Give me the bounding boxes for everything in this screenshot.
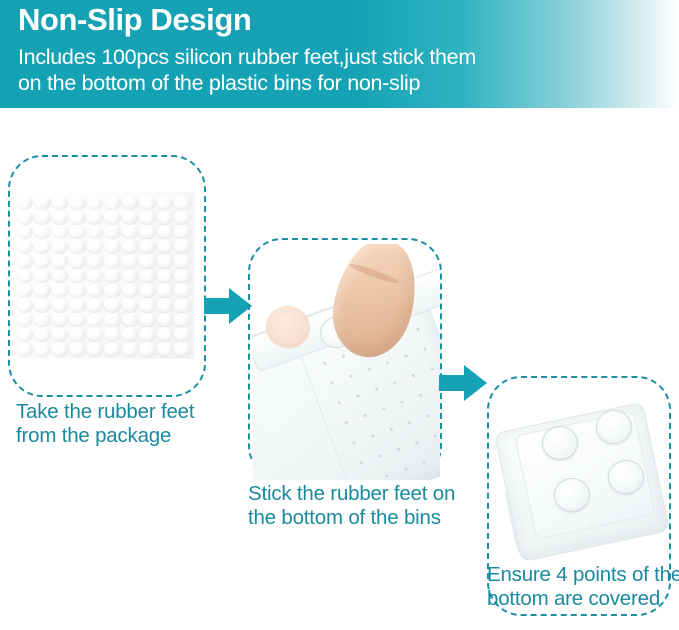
bin-texture-dot	[412, 374, 416, 378]
rubber-foot-dot	[157, 239, 174, 253]
bin-texture-dot	[426, 414, 430, 418]
bin-texture-dot	[323, 361, 327, 365]
rubber-foot-dot	[122, 313, 139, 327]
rubber-foot-dot	[69, 269, 86, 283]
rubber-foot-dot	[139, 210, 156, 224]
bin-texture-dot	[423, 348, 427, 352]
rubber-foot-dot	[87, 254, 104, 268]
rubber-foot-dot	[104, 313, 121, 327]
corner-rubber-foot-top-right	[596, 410, 632, 444]
bin-texture-dot	[352, 441, 356, 445]
bin-texture-dot	[375, 388, 379, 392]
rubber-foot-dot	[17, 283, 34, 297]
rubber-foot-dot	[104, 342, 121, 356]
rubber-foot-dot	[52, 298, 69, 312]
rubber-foot-dot	[157, 196, 174, 210]
rubber-foot-dot	[52, 313, 69, 327]
rubber-foot-dot	[174, 225, 191, 239]
rubber-foot-dot	[122, 196, 139, 210]
rubber-foot-dot	[174, 283, 191, 297]
rubber-foot-dot	[87, 269, 104, 283]
bin-texture-dot	[404, 354, 408, 358]
rubber-foot-dot	[157, 283, 174, 297]
bin-texture-dot	[356, 394, 360, 398]
bin-texture-dot	[349, 374, 353, 378]
bin-texture-dot	[393, 381, 397, 385]
rubber-foot-dot	[139, 283, 156, 297]
rubber-foot-dot	[34, 210, 51, 224]
rubber-foot-dot	[122, 298, 139, 312]
rubber-foot-dot	[104, 196, 121, 210]
page-title: Non-Slip Design	[18, 2, 251, 38]
rubber-foot-dot	[174, 313, 191, 327]
rubber-foot-dot	[139, 313, 156, 327]
bin-texture-dot	[396, 447, 400, 451]
bin-texture-dot	[386, 361, 390, 365]
rubber-foot-dot	[52, 254, 69, 268]
rubber-foot-dot	[69, 298, 86, 312]
corner-rubber-foot-bottom-right	[608, 460, 644, 494]
rubber-foot-dot	[34, 269, 51, 283]
rubber-foot-dot	[69, 313, 86, 327]
rubber-foot-dot	[122, 327, 139, 341]
rubber-foot-dot	[52, 342, 69, 356]
rubber-foot-dot	[139, 225, 156, 239]
rubber-foot-dot	[17, 239, 34, 253]
rubber-foot-dot	[104, 269, 121, 283]
rubber-foot-dot	[69, 254, 86, 268]
rubber-foot-dot	[87, 283, 104, 297]
rubber-foot-dot	[52, 283, 69, 297]
rubber-foot-dot	[52, 239, 69, 253]
rubber-foot-dot	[104, 298, 121, 312]
rubber-foot-dot	[139, 239, 156, 253]
step-1-caption: Take the rubber feet from the package	[16, 400, 226, 448]
rubber-foot-dot	[174, 239, 191, 253]
rubber-foot-dot	[87, 298, 104, 312]
rubber-foot-dot	[34, 196, 51, 210]
rubber-foot-dot	[52, 327, 69, 341]
rubber-foot-dot	[122, 269, 139, 283]
rubber-foot-dot	[34, 298, 51, 312]
rubber-foot-dot	[17, 327, 34, 341]
rubber-foot-dot	[174, 298, 191, 312]
bin-texture-dot	[389, 427, 393, 431]
bin-texture-dot	[419, 394, 423, 398]
rubber-foot-dot	[34, 254, 51, 268]
rubber-foot-dot	[157, 210, 174, 224]
rubber-foot-dot	[174, 210, 191, 224]
arrow-step2-to-step3	[437, 362, 489, 404]
rubber-foot-dot	[69, 196, 86, 210]
bin-texture-dot	[404, 467, 408, 471]
rubber-foot-dot	[139, 254, 156, 268]
bin-texture-dot	[367, 368, 371, 372]
rubber-foot-dot	[17, 196, 34, 210]
rubber-foot-dot	[17, 342, 34, 356]
rubber-foot-dot	[174, 269, 191, 283]
bin-texture-dot	[430, 367, 434, 371]
rubber-feet-sheet-image	[12, 192, 195, 359]
rubber-foot-dot	[104, 225, 121, 239]
rubber-foot-dot	[104, 210, 121, 224]
rubber-foot-dot	[157, 298, 174, 312]
banner-subtitle-line-1: Includes 100pcs silicon rubber feet,just…	[18, 44, 476, 70]
rubber-foot-dot	[122, 225, 139, 239]
rubber-foot-dot	[17, 313, 34, 327]
bin-texture-dot	[408, 421, 412, 425]
rubber-foot-dot	[157, 342, 174, 356]
rubber-foot-dot	[87, 327, 104, 341]
rubber-foot-dot	[69, 342, 86, 356]
bin-texture-dot	[363, 414, 367, 418]
rubber-foot-dot	[122, 254, 139, 268]
rubber-foot-dot	[174, 196, 191, 210]
rubber-foot-dot	[87, 210, 104, 224]
rubber-foot-dot	[34, 225, 51, 239]
rubber-foot-dot	[174, 327, 191, 341]
rubber-foot-dot	[122, 342, 139, 356]
bin-texture-dot	[416, 328, 420, 332]
bin-texture-dot	[422, 460, 426, 464]
bin-texture-dot	[385, 474, 389, 478]
rubber-foot-dot	[87, 225, 104, 239]
rubber-foot-dot	[139, 196, 156, 210]
rubber-foot-dot	[34, 342, 51, 356]
rubber-foot-dot	[69, 327, 86, 341]
rubber-foot-dot	[87, 342, 104, 356]
rubber-foot-dot	[157, 313, 174, 327]
rubber-foot-dot	[17, 254, 34, 268]
rubber-foot-dot	[174, 254, 191, 268]
rubber-foot-dot	[87, 196, 104, 210]
rubber-foot-dot	[87, 239, 104, 253]
rubber-foot-dot	[104, 239, 121, 253]
rubber-foot-dot	[139, 269, 156, 283]
bin-texture-dot	[382, 407, 386, 411]
corner-rubber-foot-top-left	[542, 426, 578, 460]
rubber-foot-dot	[17, 269, 34, 283]
header-banner: Non-Slip Design Includes 100pcs silicon …	[0, 0, 679, 108]
rubber-foot-dot	[174, 342, 191, 356]
rubber-foot-dot	[52, 210, 69, 224]
step-2-caption: Stick the rubber feet on the bottom of t…	[248, 482, 463, 530]
rubber-foot-dot	[139, 327, 156, 341]
rubber-foot-dot	[52, 196, 69, 210]
bin-texture-dot	[400, 401, 404, 405]
rubber-foot-dot	[122, 239, 139, 253]
rubber-foot-dot	[157, 254, 174, 268]
rubber-foot-dot	[122, 283, 139, 297]
banner-subtitle: Includes 100pcs silicon rubber feet,just…	[18, 44, 476, 96]
rubber-foot-dot	[34, 313, 51, 327]
rubber-foot-dot	[17, 225, 34, 239]
corner-rubber-foot-bottom-left	[554, 478, 590, 512]
rubber-foot-dot	[157, 327, 174, 341]
rubber-foot-dot	[69, 283, 86, 297]
rubber-foot-dot	[69, 210, 86, 224]
rubber-foot-dot	[52, 269, 69, 283]
bin-texture-dot	[371, 434, 375, 438]
bin-texture-dot	[415, 440, 419, 444]
rubber-foot-dot	[87, 313, 104, 327]
bin-texture-dot	[330, 381, 334, 385]
bin-texture-dot	[345, 421, 349, 425]
bin-texture-dot	[338, 401, 342, 405]
step-3-caption: Ensure 4 points of the bottom are covere…	[487, 563, 679, 611]
rubber-foot-dot	[34, 283, 51, 297]
rubber-feet-grid	[12, 192, 195, 359]
rubber-foot-dot	[17, 298, 34, 312]
rubber-foot-dot	[104, 283, 121, 297]
arrow-step1-to-step2	[202, 285, 254, 327]
rubber-foot-dot	[52, 225, 69, 239]
banner-subtitle-line-2: on the bottom of the plastic bins for no…	[18, 70, 476, 96]
stick-foot-on-bin-image	[252, 244, 440, 480]
bin-texture-dot	[378, 454, 382, 458]
rubber-foot-dot	[139, 342, 156, 356]
bin-texture-dot	[433, 434, 437, 438]
rubber-foot-dot	[157, 225, 174, 239]
rubber-foot-dot	[104, 327, 121, 341]
bin-texture-dot	[359, 461, 363, 465]
rubber-foot-dot	[69, 239, 86, 253]
rubber-foot-dot	[157, 269, 174, 283]
rubber-foot-dot	[34, 239, 51, 253]
rubber-foot-dot	[34, 327, 51, 341]
rubber-foot-dot	[17, 210, 34, 224]
rubber-foot-dot	[69, 225, 86, 239]
rubber-foot-dot	[122, 210, 139, 224]
bin-texture-dot	[342, 355, 346, 359]
rubber-foot-dot	[139, 298, 156, 312]
rubber-foot-dot	[104, 254, 121, 268]
